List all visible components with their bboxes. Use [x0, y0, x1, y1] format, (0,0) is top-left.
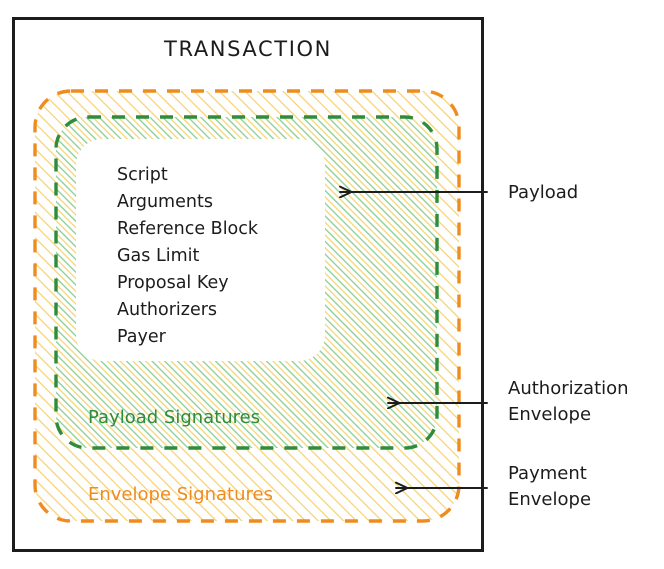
- authorization-envelope-annotation-line1: Authorization: [508, 378, 629, 399]
- payload-annotation-label: Payload: [508, 182, 578, 203]
- envelope-signatures-label: Envelope Signatures: [88, 484, 273, 505]
- transaction-diagram: TRANSACTION Script Arguments Reference B…: [0, 0, 664, 569]
- payload-field: Gas Limit: [117, 246, 199, 266]
- payload-box: [76, 139, 325, 361]
- payment-envelope-annotation-line1: Payment: [508, 463, 587, 484]
- payload-field: Authorizers: [117, 300, 217, 320]
- payload-field: Reference Block: [117, 219, 259, 239]
- payment-envelope-annotation-line2: Envelope: [508, 489, 591, 510]
- payload-field: Proposal Key: [117, 273, 229, 293]
- payload-region: [76, 139, 325, 361]
- diagram-canvas: TRANSACTION Script Arguments Reference B…: [0, 0, 664, 569]
- authorization-envelope-annotation-line2: Envelope: [508, 404, 591, 425]
- payload-signatures-label: Payload Signatures: [88, 407, 260, 428]
- page-title: TRANSACTION: [163, 37, 332, 61]
- payload-field: Payer: [117, 327, 167, 347]
- payload-field: Script: [117, 165, 168, 185]
- payload-field: Arguments: [117, 192, 213, 212]
